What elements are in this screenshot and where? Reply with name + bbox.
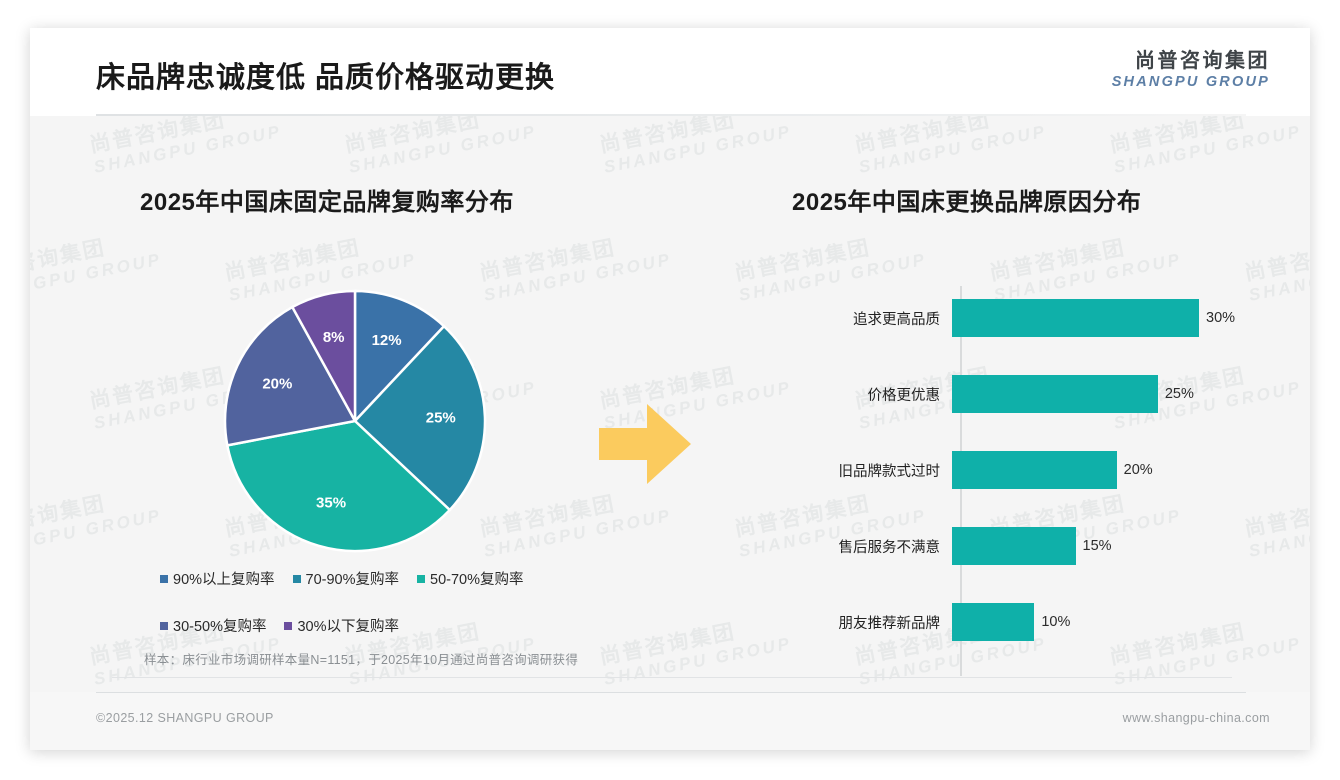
pie-slice-label: 35%: [316, 494, 346, 511]
bar-value-label: 30%: [1206, 310, 1235, 326]
slide-body: 2025年中国床固定品牌复购率分布 12%25%35%20%8% 90%以上复购…: [30, 116, 1310, 692]
bar-value-label: 15%: [1083, 538, 1112, 554]
bar-fill[interactable]: [952, 375, 1158, 413]
bar-row[interactable]: 售后服务不满意15%: [730, 527, 1112, 565]
logo-chinese-text: 尚普咨询集团: [1112, 50, 1270, 73]
bar-chart: 追求更高品质30%价格更优惠25%旧品牌款式过时20%售后服务不满意15%朋友推…: [730, 266, 1250, 686]
bar-category-label: 售后服务不满意: [730, 536, 952, 557]
slide-header: 床品牌忠诚度低 品质价格驱动更换 尚普咨询集团 SHANGPU GROUP: [30, 28, 1310, 116]
bar-row[interactable]: 价格更优惠25%: [730, 375, 1194, 413]
right-arrow-icon: [595, 398, 695, 495]
pie-chart-svg: 12%25%35%20%8%: [210, 276, 500, 566]
bar-fill[interactable]: [952, 299, 1199, 337]
bar-row[interactable]: 追求更高品质30%: [730, 299, 1235, 337]
header-divider: [96, 114, 1246, 116]
bar-category-label: 旧品牌款式过时: [730, 460, 952, 481]
bar-fill[interactable]: [952, 451, 1117, 489]
bar-category-label: 追求更高品质: [730, 308, 952, 329]
bar-value-label: 10%: [1041, 614, 1070, 630]
legend-swatch: [160, 622, 168, 630]
bar-fill[interactable]: [952, 603, 1034, 641]
bar-value-label: 25%: [1165, 386, 1194, 402]
bar-row[interactable]: 旧品牌款式过时20%: [730, 451, 1153, 489]
footnote-divider: [112, 677, 1232, 678]
bar-category-label: 价格更优惠: [730, 384, 952, 405]
copyright-text: ©2025.12 SHANGPU GROUP: [96, 711, 274, 725]
legend-label: 30-50%复购率: [173, 615, 266, 636]
legend-item[interactable]: 30-50%复购率: [160, 615, 266, 636]
slide-footer: ©2025.12 SHANGPU GROUP www.shangpu-china…: [30, 692, 1310, 750]
pie-slice-label: 20%: [262, 375, 292, 392]
website-url[interactable]: www.shangpu-china.com: [1123, 711, 1270, 725]
bar-row[interactable]: 朋友推荐新品牌10%: [730, 603, 1070, 641]
legend-item[interactable]: 50-70%复购率: [417, 568, 523, 589]
pie-slice-label: 12%: [372, 332, 402, 349]
sample-note: 样本：床行业市场调研样本量N=1151，于2025年10月通过尚普咨询调研获得: [144, 649, 578, 668]
legend-item[interactable]: 30%以下复购率: [284, 615, 399, 636]
bar-category-label: 朋友推荐新品牌: [730, 612, 952, 633]
pie-slice-label: 8%: [323, 329, 345, 346]
legend-label: 50-70%复购率: [430, 568, 523, 589]
legend-label: 70-90%复购率: [306, 568, 399, 589]
legend-swatch: [417, 575, 425, 583]
page-title: 床品牌忠诚度低 品质价格驱动更换: [96, 54, 555, 96]
bar-fill[interactable]: [952, 527, 1076, 565]
pie-chart-title: 2025年中国床固定品牌复购率分布: [140, 182, 514, 217]
slide: 尚普咨询集团SHANGPU GROUP尚普咨询集团SHANGPU GROUP尚普…: [30, 28, 1310, 750]
footer-divider: [96, 692, 1246, 693]
pie-slice-label: 25%: [426, 409, 456, 426]
legend-swatch: [293, 575, 301, 583]
bar-value-label: 20%: [1124, 462, 1153, 478]
company-logo: 尚普咨询集团 SHANGPU GROUP: [1112, 50, 1270, 92]
legend-label: 30%以下复购率: [297, 615, 399, 636]
legend-item[interactable]: 70-90%复购率: [293, 568, 399, 589]
legend-item[interactable]: 90%以上复购率: [160, 568, 275, 589]
pie-chart: 12%25%35%20%8%: [210, 276, 500, 566]
logo-english-text: SHANGPU GROUP: [1112, 73, 1270, 92]
bar-chart-title: 2025年中国床更换品牌原因分布: [792, 182, 1141, 217]
legend-label: 90%以上复购率: [173, 568, 275, 589]
pie-legend: 90%以上复购率70-90%复购率50-70%复购率30-50%复购率30%以下…: [160, 568, 600, 636]
legend-swatch: [160, 575, 168, 583]
legend-swatch: [284, 622, 292, 630]
